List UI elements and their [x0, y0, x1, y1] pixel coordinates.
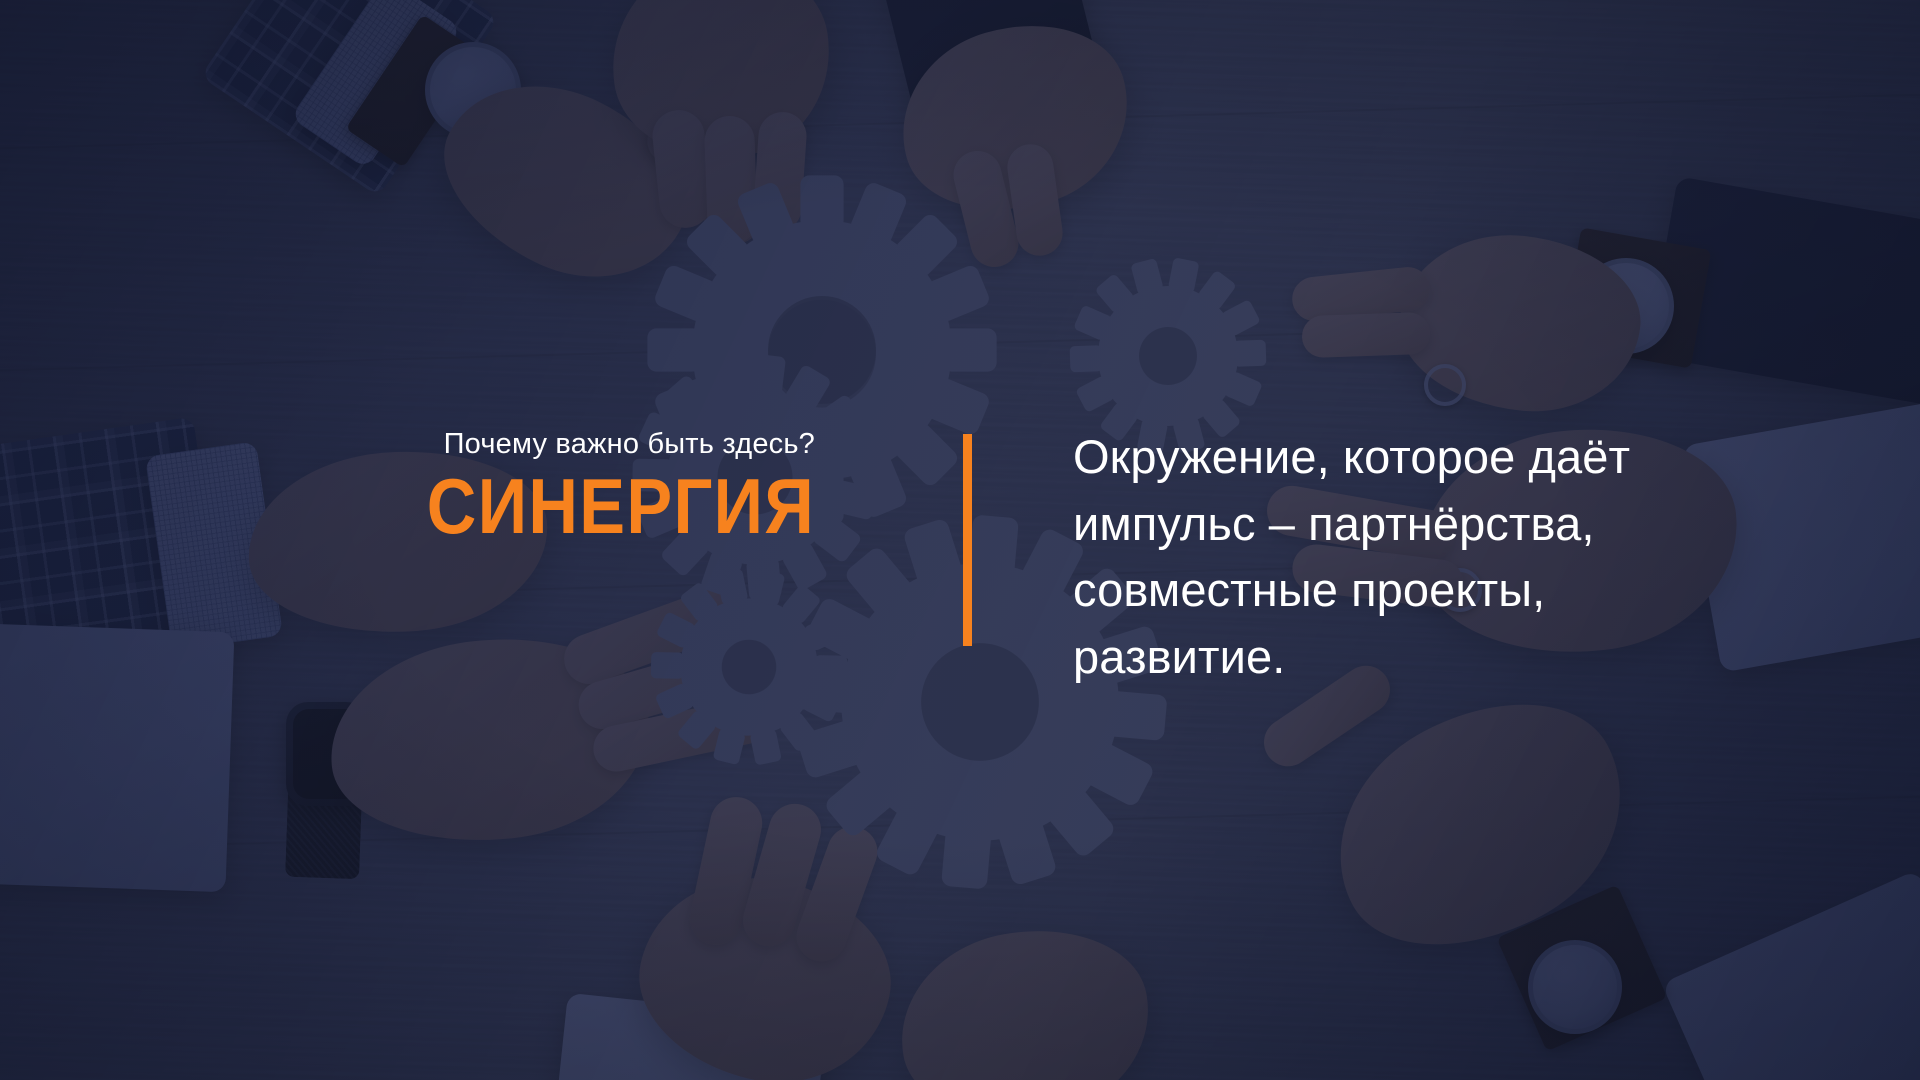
right-text-block: Окружение, которое даёт импульс – партнё…: [1073, 424, 1713, 691]
body-paragraph: Окружение, которое даёт импульс – партнё…: [1073, 424, 1713, 691]
eyebrow-question: Почему важно быть здесь?: [340, 428, 815, 461]
page-title: СИНЕРГИЯ: [397, 467, 815, 545]
left-text-block: Почему важно быть здесь? СИНЕРГИЯ: [340, 428, 815, 545]
presentation-slide: Почему важно быть здесь? СИНЕРГИЯ Окруже…: [0, 0, 1920, 1080]
slide-content: Почему важно быть здесь? СИНЕРГИЯ Окруже…: [0, 0, 1920, 1080]
accent-divider: [963, 434, 972, 646]
